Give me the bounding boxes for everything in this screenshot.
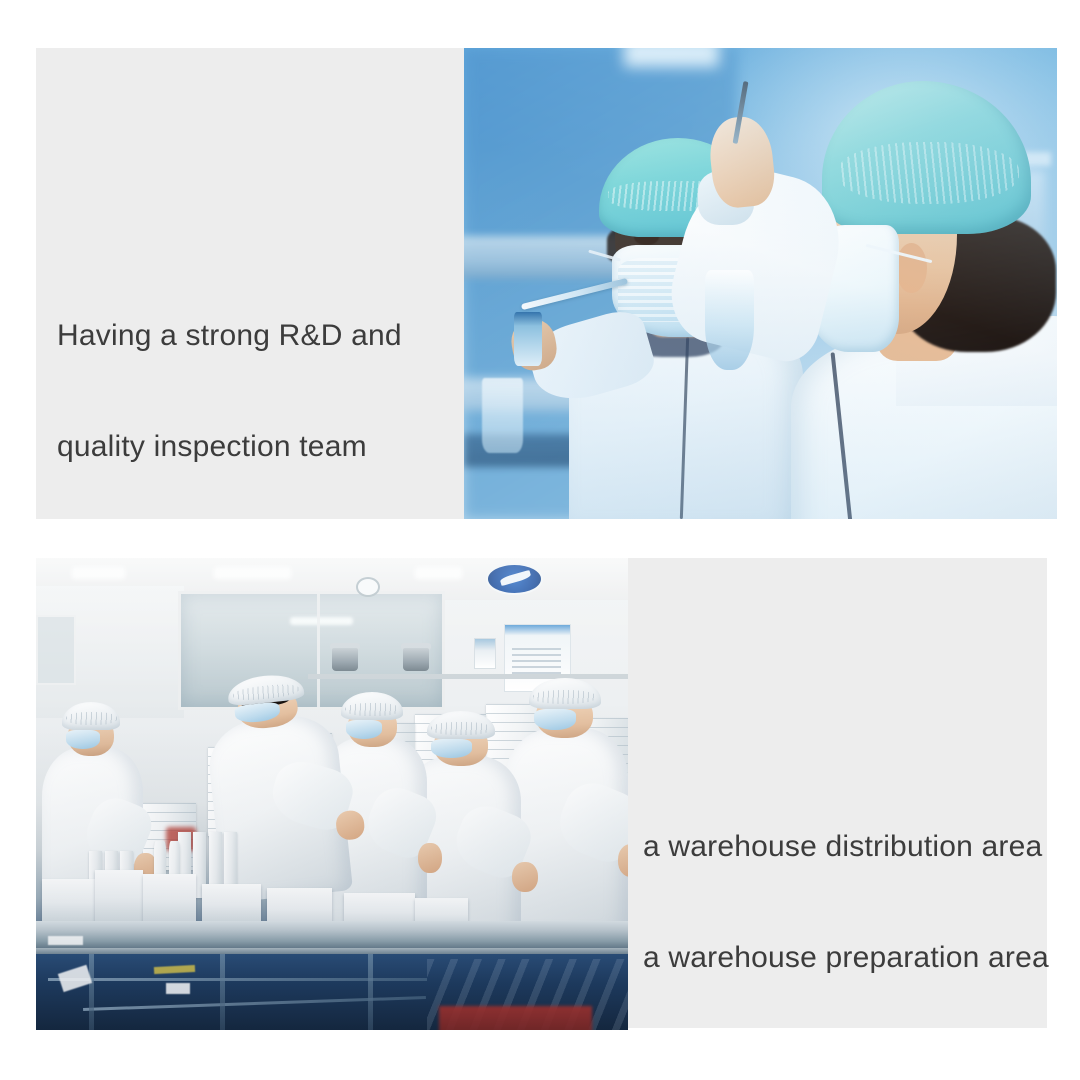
bottom-caption-line-2: a warehouse preparation area <box>643 939 1049 976</box>
face-mask <box>431 739 471 758</box>
face-mask <box>66 730 100 749</box>
carton-row-item <box>95 870 142 927</box>
technician-ear <box>896 243 927 293</box>
steel-pot <box>332 648 358 672</box>
paper-sheet <box>48 936 84 945</box>
face-mask <box>534 709 576 730</box>
equipment-shelf <box>308 674 628 680</box>
carton-row-item <box>143 874 196 926</box>
bottom-caption: a warehouse distribution area a warehous… <box>643 754 1049 1013</box>
steel-pot <box>403 648 429 672</box>
warehouse-packing-photo <box>36 558 628 1030</box>
window-divider <box>317 594 320 707</box>
wall-clock-icon <box>356 577 380 597</box>
blue-circular-sign-icon <box>486 563 543 595</box>
lab-flask <box>705 270 754 369</box>
lab-ceiling-lamp <box>624 48 719 67</box>
table-leg <box>89 954 94 1030</box>
red-floor-object <box>439 1006 593 1030</box>
stainless-steel-table-top <box>36 921 628 949</box>
lab-technician-profile <box>772 72 1057 519</box>
lab-scene <box>464 48 1057 519</box>
table-leg <box>368 954 373 1030</box>
wall-panel <box>36 615 76 685</box>
top-caption-line-2: quality inspection team <box>57 428 402 465</box>
blue-hairnet <box>822 81 1032 235</box>
carton-row-item <box>42 879 95 926</box>
top-caption: Having a strong R&D and quality inspecti… <box>57 243 402 502</box>
window-lamp <box>290 617 353 625</box>
ceiling-light-icon <box>415 567 462 578</box>
lab-quality-inspection-photo <box>464 48 1057 519</box>
ceiling-light-icon <box>214 567 291 578</box>
ceiling-light-icon <box>72 567 125 578</box>
table-leg <box>220 954 225 1030</box>
worker-hand <box>418 843 441 873</box>
face-mask <box>346 720 382 739</box>
warehouse-scene <box>36 558 628 1030</box>
carton-row-item <box>202 884 261 926</box>
worker-hand <box>512 862 538 892</box>
top-caption-line-1: Having a strong R&D and <box>57 317 402 354</box>
lab-beaker <box>482 378 524 453</box>
paper-sheet <box>166 983 190 994</box>
shelf-carton <box>474 638 496 668</box>
sample-vial <box>514 312 541 366</box>
bottom-caption-line-1: a warehouse distribution area <box>643 828 1049 865</box>
